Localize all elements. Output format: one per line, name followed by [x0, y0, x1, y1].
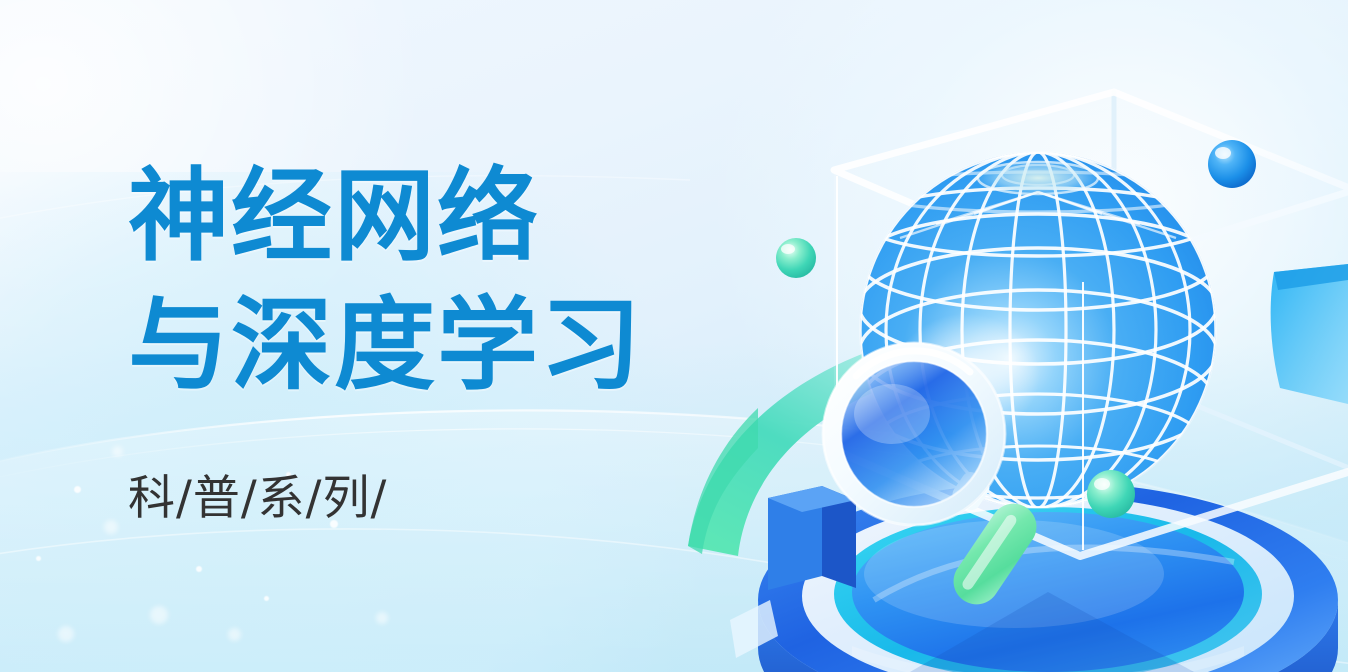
- bokeh-dot: [228, 628, 241, 641]
- bokeh-dot: [150, 606, 168, 624]
- bokeh-dot: [58, 626, 74, 642]
- blue-block-left: [768, 486, 856, 590]
- green-sphere-left: [776, 238, 816, 281]
- bokeh-dot: [104, 520, 118, 534]
- bokeh-dot: [74, 486, 81, 493]
- blue-ribbon-right: [1271, 264, 1348, 404]
- bokeh-dot: [376, 612, 388, 624]
- page-title-line-1: 神经网络: [128, 152, 768, 281]
- banner-root: 神经网络 与深度学习 科/普/系/列/: [0, 0, 1348, 672]
- bokeh-dot: [264, 596, 269, 601]
- hero-illustration: [674, 0, 1348, 672]
- page-subtitle: 科/普/系/列/: [128, 459, 768, 528]
- bokeh-dot: [196, 566, 202, 572]
- blue-sphere-topright: [1208, 140, 1256, 188]
- bokeh-dot: [36, 556, 41, 561]
- headline-group: 神经网络 与深度学习 科/普/系/列/: [128, 152, 768, 528]
- bokeh-dot: [112, 446, 123, 457]
- page-title-line-2: 与深度学习: [128, 281, 768, 410]
